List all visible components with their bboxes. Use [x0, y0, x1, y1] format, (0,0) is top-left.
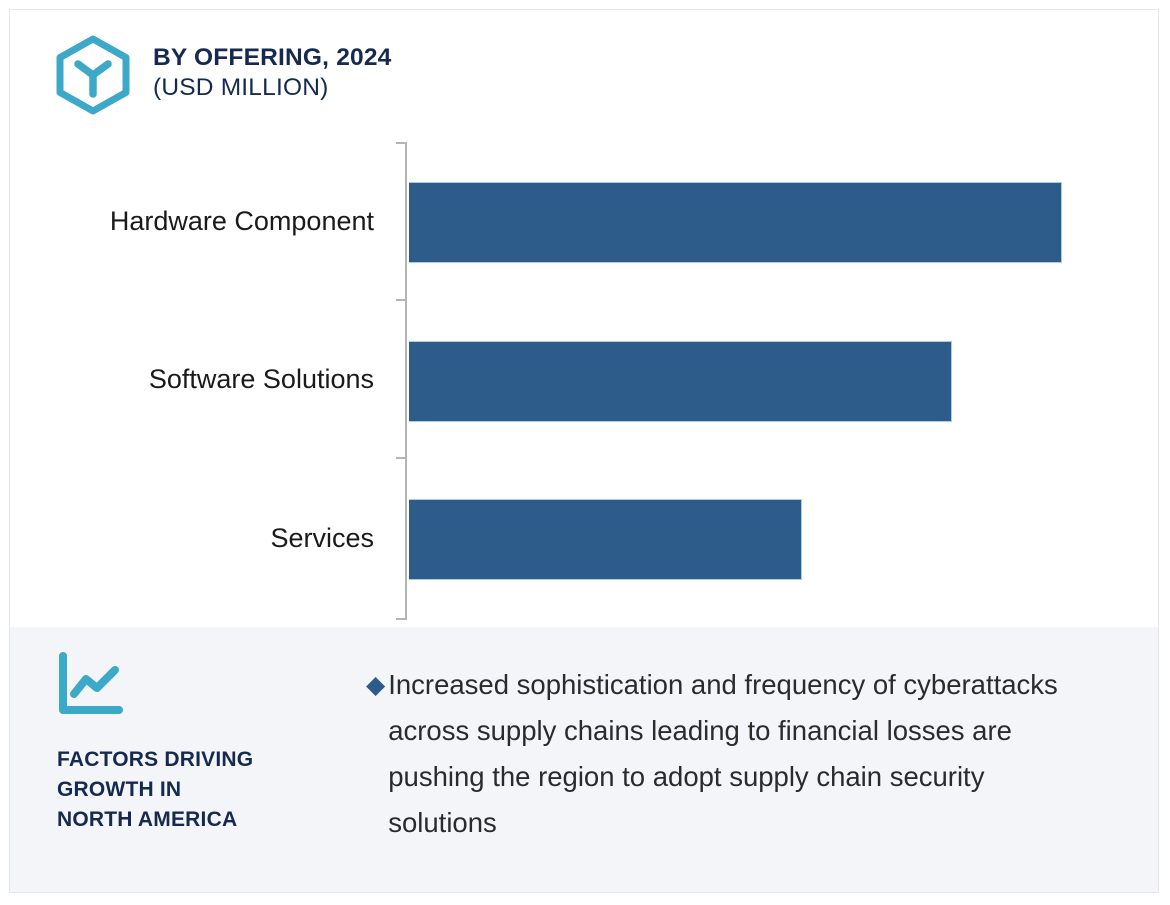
- factors-panel-right: ◆ Increased sophistication and frequency…: [366, 662, 1078, 846]
- axis-tick: [396, 299, 407, 301]
- bar-services: [409, 499, 802, 580]
- line-chart-icon: [57, 652, 329, 720]
- infographic-card: BY OFFERING, 2024 (USD MILLION) Hardware…: [9, 9, 1159, 893]
- chart-axis-line: [405, 142, 407, 620]
- bar-chart: Hardware Component Software Solutions Se…: [10, 10, 1159, 628]
- bar-hardware-component: [409, 182, 1062, 263]
- factors-heading-line-2: GROWTH IN: [57, 775, 329, 805]
- category-label-software-solutions: Software Solutions: [149, 366, 374, 393]
- factors-panel-left: FACTORS DRIVING GROWTH IN NORTH AMERICA: [57, 652, 329, 835]
- bar-software-solutions: [409, 341, 952, 422]
- factors-heading-line-3: NORTH AMERICA: [57, 805, 329, 835]
- axis-tick: [396, 618, 407, 620]
- category-label-hardware-component: Hardware Component: [110, 208, 374, 235]
- diamond-bullet-icon: ◆: [366, 662, 385, 708]
- factors-panel-body: Increased sophistication and frequency o…: [388, 662, 1078, 846]
- factors-heading-line-1: FACTORS DRIVING: [57, 745, 329, 775]
- axis-tick: [396, 457, 407, 459]
- factors-panel: FACTORS DRIVING GROWTH IN NORTH AMERICA …: [10, 627, 1159, 893]
- axis-tick: [396, 142, 407, 144]
- factors-panel-heading: FACTORS DRIVING GROWTH IN NORTH AMERICA: [57, 745, 329, 835]
- category-label-services: Services: [270, 525, 374, 552]
